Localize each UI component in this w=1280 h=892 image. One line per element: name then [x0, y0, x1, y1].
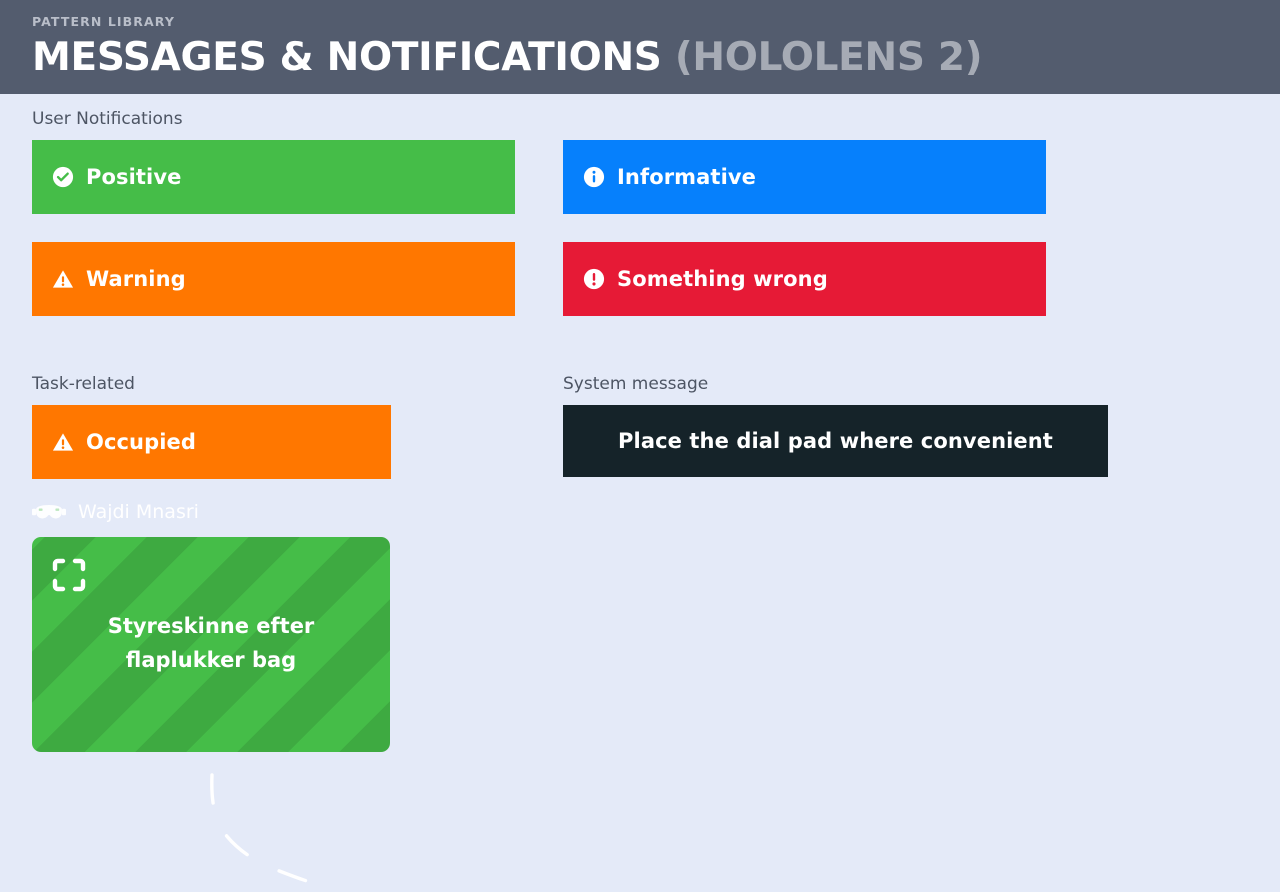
notification-positive[interactable]: Positive	[32, 140, 515, 214]
task-related-label: Task-related	[32, 373, 563, 395]
notification-positive-label: Positive	[86, 165, 182, 189]
scan-frame-icon	[51, 557, 87, 597]
system-message-text: Place the dial pad where convenient	[618, 429, 1053, 453]
info-circle-icon	[583, 166, 605, 188]
page-title-main: MESSAGES & NOTIFICATIONS	[32, 35, 662, 80]
notification-row-1: Positive Informative	[32, 140, 1248, 214]
notification-error[interactable]: Something wrong	[563, 242, 1046, 316]
lower-content-row: Occupied Wajdi Mnasri	[32, 405, 1248, 752]
check-circle-icon	[52, 166, 74, 188]
exclamation-circle-icon	[583, 268, 605, 290]
notification-occupied[interactable]: Occupied	[32, 405, 391, 479]
notification-informative[interactable]: Informative	[563, 140, 1046, 214]
page-title: MESSAGES & NOTIFICATIONS (HOLOLENS 2)	[32, 32, 1280, 84]
warning-triangle-icon	[52, 268, 74, 290]
content-area: User Notifications Positive	[0, 94, 1280, 752]
task-user-name: Wajdi Mnasri	[78, 500, 199, 524]
hololens-goggles-icon	[32, 502, 66, 522]
eyebrow-label: PATTERN LIBRARY	[32, 14, 1280, 30]
task-user-row: Wajdi Mnasri	[32, 497, 563, 527]
page-header: PATTERN LIBRARY MESSAGES & NOTIFICATIONS…	[0, 0, 1280, 94]
page-title-subject: (HOLOLENS 2)	[675, 35, 982, 80]
user-notifications-section: User Notifications	[32, 94, 1248, 130]
notification-row-2: Warning Something wrong	[32, 242, 1248, 316]
notification-occupied-label: Occupied	[86, 430, 196, 454]
notification-warning-label: Warning	[86, 267, 186, 291]
user-notifications-label: User Notifications	[32, 108, 563, 130]
task-card-text: Styreskinne efter flaplukker bag	[32, 609, 390, 677]
system-message-card[interactable]: Place the dial pad where convenient	[563, 405, 1108, 477]
lower-sections: Task-related System message	[32, 373, 1248, 395]
notification-error-label: Something wrong	[617, 267, 828, 291]
system-message-label: System message	[563, 373, 1248, 395]
notification-informative-label: Informative	[617, 165, 756, 189]
task-card[interactable]: Styreskinne efter flaplukker bag	[32, 537, 390, 752]
warning-triangle-icon	[52, 431, 74, 453]
notification-warning[interactable]: Warning	[32, 242, 515, 316]
